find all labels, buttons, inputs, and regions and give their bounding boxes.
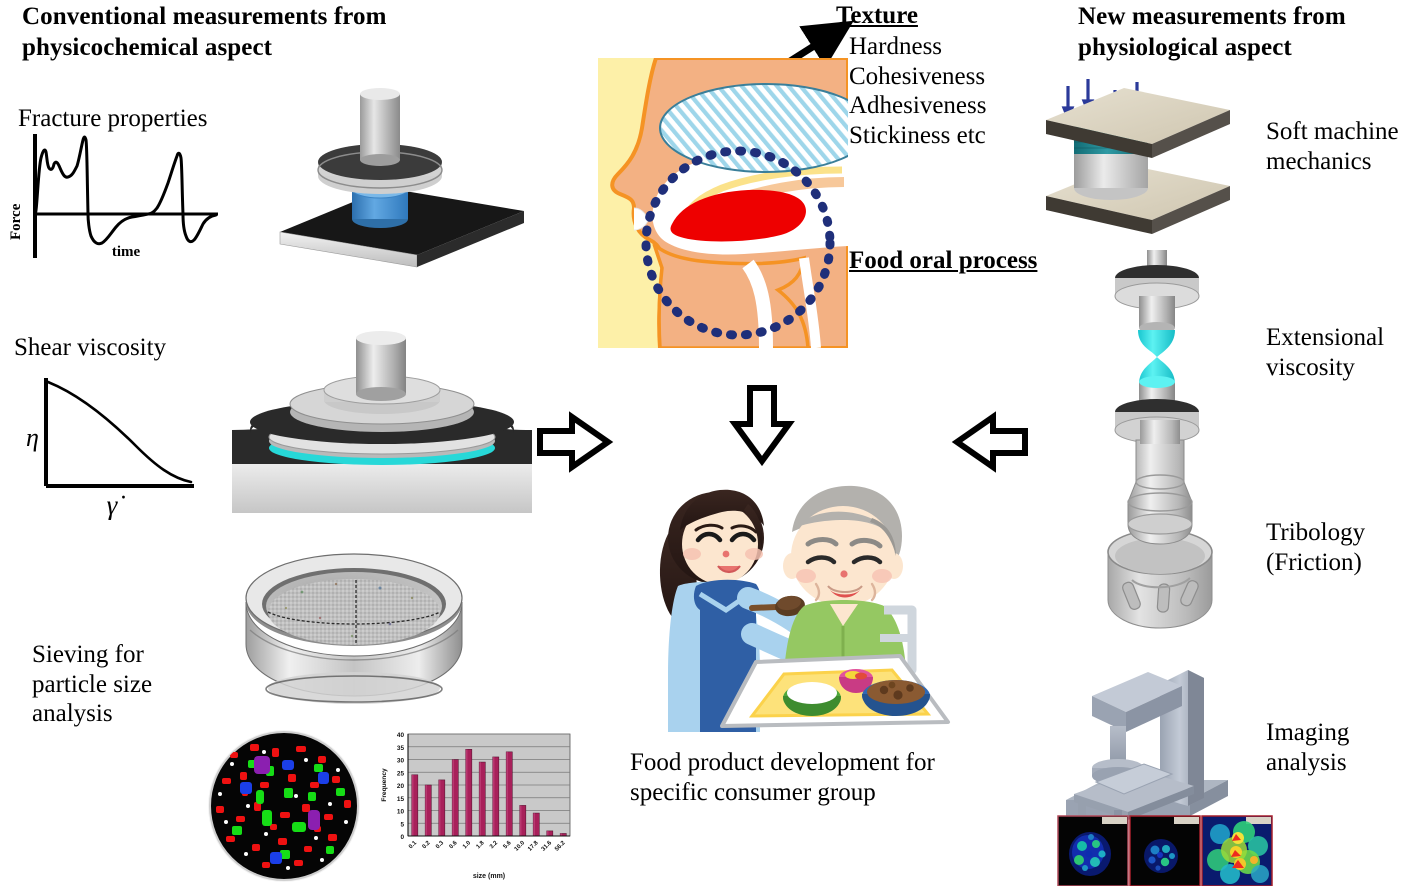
heatmap-thumbnail-1	[1058, 816, 1128, 886]
bar-chart-x-tick: 3.2	[489, 840, 500, 851]
sieving-label-line3: analysis	[32, 699, 222, 729]
bar-chart-x-tick: 0.6	[449, 840, 460, 851]
right-heading-line1: New measurements from	[1078, 2, 1418, 33]
imaging-heatmap-thumbnails	[1058, 816, 1272, 886]
extensional-viscosity-label-line1: Extensional	[1266, 323, 1419, 353]
fracture-x-axis-label: time	[112, 244, 141, 260]
bar-chart-y-tick: 20	[397, 783, 405, 790]
food-oral-process-title: Food oral process	[849, 247, 1037, 275]
imaging-analysis-label-line1: Imaging	[1266, 718, 1419, 748]
sieving-label-line2: particle size	[32, 670, 222, 700]
bar-chart-y-tick: 35	[397, 745, 405, 752]
viscosity-x-axis-label: γ̇	[107, 490, 126, 520]
soft-machine-mechanics-label: Soft machine mechanics	[1266, 117, 1419, 176]
bar-chart-x-tick: 1.0	[462, 840, 473, 851]
texture-attribute: Cohesiveness	[849, 62, 1039, 92]
shear-viscosity-title: Shear viscosity	[14, 333, 166, 363]
arrow-right-icon	[538, 414, 610, 470]
shear-viscosity-chart: η γ̇	[8, 368, 228, 518]
tribology-label-line2: (Friction)	[1266, 548, 1419, 578]
bar-chart-y-tick: 15	[397, 796, 405, 803]
bar-chart-y-tick: 25	[397, 770, 405, 777]
bar-chart-x-tick: 17.8	[527, 840, 540, 853]
test-sieve-icon	[240, 548, 470, 698]
fracture-properties-chart: Force time	[8, 130, 223, 270]
oral-anatomy-illustration	[598, 58, 848, 348]
center-caption-line2: specific consumer group	[630, 778, 1030, 808]
bar-chart-x-tick: 0.2	[422, 840, 433, 851]
particle-size-bar-chart: 05101520253035400.10.20.30.61.01.83.25.6…	[374, 728, 578, 884]
texture-attribute: Hardness	[849, 32, 1039, 62]
left-heading-line2: physicochemical aspect	[22, 33, 422, 64]
center-caption-line1: Food product development for	[630, 748, 1030, 778]
heatmap-thumbnail-3	[1202, 816, 1272, 886]
arrow-left-icon	[955, 414, 1027, 470]
sieving-label: Sieving for particle size analysis	[32, 640, 222, 729]
soft-machine-mechanics-label-line2: mechanics	[1266, 147, 1419, 177]
tribology-label-line1: Tribology	[1266, 518, 1419, 548]
left-column-heading: Conventional measurements from physicoch…	[22, 2, 422, 63]
bar-chart-x-tick: 5.6	[503, 840, 514, 851]
bar-chart-x-tick: 0.1	[408, 840, 419, 851]
bar-chart-x-tick: 0.3	[435, 840, 446, 851]
extensional-viscosity-label: Extensional viscosity	[1266, 323, 1419, 382]
bar-chart-y-tick: 5	[400, 821, 404, 828]
bar-chart-x-tick: 10.0	[514, 840, 527, 853]
microscope-icon	[1052, 650, 1282, 830]
fracture-y-axis-label: Force	[8, 203, 24, 240]
imaging-analysis-label-line2: analysis	[1266, 748, 1419, 778]
sieving-label-line1: Sieving for	[32, 640, 222, 670]
bar-chart-y-tick: 30	[397, 758, 405, 765]
extensional-viscosity-label-line2: viscosity	[1266, 353, 1419, 383]
tribology-label: Tribology (Friction)	[1266, 518, 1419, 577]
texture-attribute: Adhesiveness	[849, 91, 1039, 121]
heatmap-thumbnail-2	[1130, 816, 1200, 886]
bar-chart-y-tick: 0	[400, 834, 404, 841]
soft-machine-mechanics-icon	[1040, 78, 1270, 238]
rotational-rheometer-icon	[232, 338, 532, 513]
tribology-icon	[1080, 440, 1240, 640]
bar-chart-x-tick: 1.8	[476, 840, 487, 851]
bar-chart-x-tick: 56.2	[554, 840, 567, 853]
left-heading-line1: Conventional measurements from	[22, 2, 422, 33]
texture-analyzer-icon	[232, 92, 532, 272]
soft-machine-mechanics-label-line1: Soft machine	[1266, 117, 1419, 147]
bar-chart-y-tick: 40	[397, 732, 405, 739]
texture-attribute-list: Hardness Cohesiveness Adhesiveness Stick…	[849, 32, 1039, 150]
right-column-heading: New measurements from physiological aspe…	[1078, 2, 1418, 63]
imaging-analysis-label: Imaging analysis	[1266, 718, 1419, 777]
bar-chart-y-axis-label: Frequency	[381, 768, 388, 802]
caregiver-feeding-illustration	[644, 474, 956, 738]
bar-chart-x-tick: 31.6	[541, 840, 554, 853]
center-caption: Food product development for specific co…	[630, 748, 1030, 808]
bar-chart-x-axis-label: size (mm)	[473, 873, 505, 880]
right-heading-line2: physiological aspect	[1078, 33, 1418, 64]
particle-image	[196, 726, 372, 886]
viscosity-y-axis-label: η	[26, 423, 39, 452]
texture-attribute: Stickiness etc	[849, 121, 1039, 151]
bar-chart-y-tick: 10	[397, 809, 405, 816]
arrow-down-icon	[731, 386, 793, 464]
